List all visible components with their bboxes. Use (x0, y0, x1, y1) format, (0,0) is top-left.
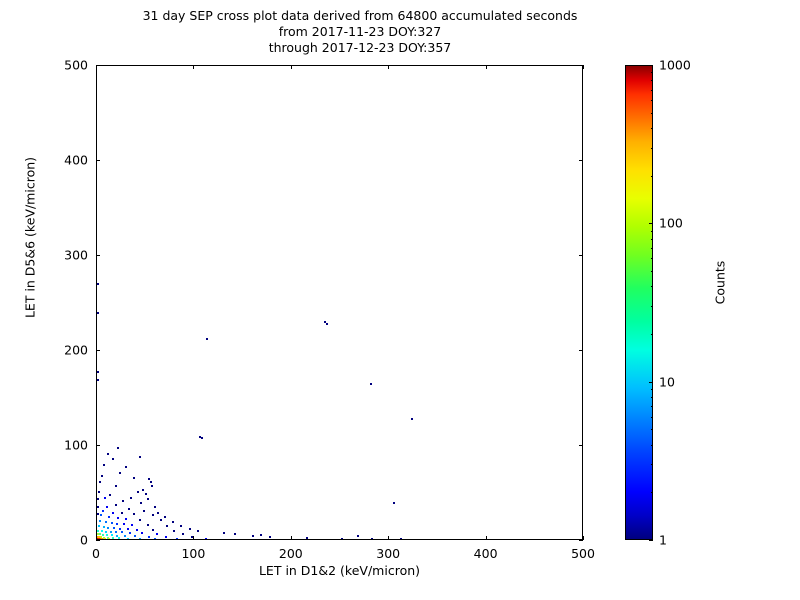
data-point (357, 535, 359, 537)
data-point (128, 508, 130, 510)
data-point (370, 383, 372, 385)
data-point (139, 519, 141, 521)
colorbar-minor-tick (651, 80, 654, 81)
data-point (252, 535, 254, 537)
data-point (119, 528, 121, 530)
plot-area (96, 65, 583, 540)
colorbar-minor-tick (651, 90, 654, 91)
data-point (105, 539, 107, 540)
data-point (247, 539, 249, 540)
data-point (98, 491, 100, 493)
x-tick (388, 536, 389, 540)
data-point (140, 502, 142, 504)
data-point (115, 539, 117, 540)
colorbar-minor-tick (651, 100, 654, 101)
y-tick-label: 200 (48, 343, 88, 358)
x-tick-label: 0 (92, 546, 100, 561)
x-tick-label: 300 (376, 546, 400, 561)
x-tick-top (486, 65, 487, 69)
x-tick-label: 100 (181, 546, 205, 561)
data-point (97, 283, 99, 285)
data-point (147, 498, 149, 500)
data-point (103, 526, 105, 528)
data-point (124, 535, 126, 537)
data-point (107, 527, 109, 529)
x-tick-top (388, 65, 389, 69)
colorbar-minor-tick (651, 271, 654, 272)
y-tick (96, 255, 100, 256)
data-point (109, 494, 111, 496)
data-point (97, 312, 99, 314)
data-point (152, 514, 154, 516)
data-point (184, 539, 186, 540)
data-point (115, 504, 117, 506)
data-point (165, 536, 167, 538)
data-point (97, 530, 99, 532)
data-point (148, 478, 150, 480)
data-point (105, 531, 107, 533)
data-point (260, 534, 262, 536)
data-point (411, 418, 413, 420)
data-point (97, 506, 99, 508)
y-axis-label: LET in D5&6 (keV/micron) (23, 128, 38, 348)
data-point (157, 512, 159, 514)
data-point (148, 536, 150, 538)
data-point (133, 513, 135, 515)
data-point (216, 539, 218, 540)
data-point (139, 456, 141, 458)
y-tick-right (579, 160, 583, 161)
colorbar-minor-tick (651, 334, 654, 335)
data-point (160, 539, 162, 540)
colorbar (625, 65, 653, 540)
colorbar-minor-tick (651, 464, 654, 465)
data-point (201, 437, 203, 439)
data-point (384, 539, 386, 540)
y-tick (96, 540, 100, 541)
colorbar-minor-tick (651, 231, 654, 232)
colorbar-tick-label: 1000 (659, 58, 691, 73)
data-point (133, 477, 135, 479)
data-point (102, 510, 104, 512)
data-point (108, 516, 110, 518)
title-line-2: from 2017-11-23 DOY:327 (0, 24, 720, 40)
data-point (119, 472, 121, 474)
data-point (127, 538, 129, 540)
data-point (132, 539, 134, 540)
data-point (205, 538, 207, 540)
colorbar-minor-tick (651, 248, 654, 249)
data-point (154, 538, 156, 540)
colorbar-minor-tick (651, 389, 654, 390)
data-point (136, 529, 138, 531)
data-point (371, 538, 373, 540)
colorbar-minor-tick (651, 417, 654, 418)
data-point (186, 539, 188, 540)
colorbar-minor-tick (651, 286, 654, 287)
data-point (98, 525, 100, 527)
x-tick (583, 536, 584, 540)
data-point (110, 531, 112, 533)
data-point (117, 447, 119, 449)
data-point (100, 514, 102, 516)
data-point (234, 533, 236, 535)
data-point (145, 539, 147, 540)
data-point (341, 538, 343, 540)
x-tick-top (291, 65, 292, 69)
data-point (400, 538, 402, 540)
colorbar-minor-tick (651, 445, 654, 446)
data-point (97, 371, 99, 373)
data-point (121, 512, 123, 514)
colorbar-tick-label: 10 (659, 374, 675, 389)
data-point (443, 539, 445, 540)
chart-title: 31 day SEP cross plot data derived from … (0, 8, 720, 56)
data-point (156, 533, 158, 535)
data-point (97, 513, 99, 515)
x-tick (486, 536, 487, 540)
data-point (162, 539, 164, 540)
data-point (180, 525, 182, 527)
data-point (102, 534, 104, 536)
y-tick-label: 500 (48, 58, 88, 73)
x-tick (291, 536, 292, 540)
data-point (393, 502, 395, 504)
data-point (213, 539, 215, 540)
data-point (105, 521, 107, 523)
data-point (111, 534, 113, 536)
colorbar-tick (649, 65, 653, 66)
y-tick (96, 65, 100, 66)
data-point (103, 464, 105, 466)
data-point (101, 530, 103, 532)
data-point (152, 529, 154, 531)
y-tick-label: 100 (48, 438, 88, 453)
data-point (281, 539, 283, 540)
y-tick (96, 350, 100, 351)
data-point (142, 489, 144, 491)
y-tick-right (579, 255, 583, 256)
data-point (106, 506, 108, 508)
x-tick-label: 200 (279, 546, 303, 561)
data-point (326, 323, 328, 325)
data-point (112, 458, 114, 460)
data-point (125, 518, 127, 520)
colorbar-minor-tick (651, 72, 654, 73)
data-point (150, 481, 152, 483)
data-point (127, 528, 129, 530)
data-point (115, 531, 117, 533)
data-point (122, 500, 124, 502)
colorbar-tick (649, 382, 653, 383)
data-point (160, 519, 162, 521)
colorbar-minor-tick (651, 397, 654, 398)
data-point (130, 497, 132, 499)
data-point (123, 523, 125, 525)
colorbar-tick-label: 1 (659, 533, 667, 548)
data-point (112, 512, 114, 514)
data-point (206, 338, 208, 340)
data-point (189, 528, 191, 530)
colorbar-minor-tick (651, 113, 654, 114)
title-line-1: 31 day SEP cross plot data derived from … (0, 8, 720, 24)
data-point (116, 523, 118, 525)
data-point (101, 475, 103, 477)
data-point (121, 531, 123, 533)
y-tick-label: 400 (48, 153, 88, 168)
data-point (134, 535, 136, 537)
x-axis-label: LET in D1&2 (keV/micron) (96, 563, 583, 578)
figure: 31 day SEP cross plot data derived from … (0, 0, 800, 600)
data-point (143, 539, 145, 540)
data-point (137, 491, 139, 493)
data-point (100, 539, 102, 540)
data-point (115, 485, 117, 487)
data-point (324, 321, 326, 323)
data-point (223, 532, 225, 534)
x-tick-label: 400 (474, 546, 498, 561)
y-tick-label: 300 (48, 248, 88, 263)
x-tick-top (193, 65, 194, 69)
data-point (460, 539, 462, 540)
colorbar-label: Counts (713, 203, 728, 363)
data-point (102, 539, 104, 540)
colorbar-minor-tick (651, 128, 654, 129)
colorbar-minor-tick (651, 492, 654, 493)
data-point (242, 539, 244, 540)
data-point (425, 539, 427, 540)
data-point (117, 517, 119, 519)
colorbar-tick (649, 223, 653, 224)
y-tick (96, 160, 100, 161)
data-point (154, 506, 156, 508)
y-tick-right (579, 350, 583, 351)
data-point (151, 485, 153, 487)
data-point (306, 537, 308, 539)
data-point (97, 498, 99, 500)
data-point (97, 379, 99, 381)
data-point (166, 525, 168, 527)
y-tick-right (579, 65, 583, 66)
colorbar-minor-tick (651, 239, 654, 240)
title-line-3: through 2017-12-23 DOY:357 (0, 40, 720, 56)
data-point (129, 532, 131, 534)
colorbar-minor-tick (651, 148, 654, 149)
colorbar-minor-tick (651, 306, 654, 307)
data-point (99, 533, 101, 535)
data-point (125, 466, 127, 468)
data-point (173, 530, 175, 532)
y-tick-label: 0 (48, 533, 88, 548)
x-tick-top (583, 65, 584, 69)
colorbar-minor-tick (651, 176, 654, 177)
data-point (182, 533, 184, 535)
data-point (176, 538, 178, 540)
data-point (104, 497, 106, 499)
data-point (141, 532, 143, 534)
data-point (107, 453, 109, 455)
scatter-points-layer (97, 66, 582, 539)
x-tick-label: 500 (571, 546, 595, 561)
data-point (99, 520, 101, 522)
data-point (145, 493, 147, 495)
y-tick-right (579, 445, 583, 446)
data-point (131, 524, 133, 526)
data-point (147, 524, 149, 526)
data-point (143, 510, 145, 512)
data-point (122, 539, 124, 540)
data-point (269, 536, 271, 538)
data-point (113, 527, 115, 529)
data-point (164, 516, 166, 518)
y-tick (96, 445, 100, 446)
colorbar-minor-tick (651, 258, 654, 259)
data-point (109, 539, 111, 540)
colorbar-minor-tick (651, 429, 654, 430)
data-point (139, 538, 141, 540)
data-point (99, 481, 101, 483)
data-point (172, 521, 174, 523)
data-point (197, 530, 199, 532)
colorbar-tick-label: 100 (659, 216, 683, 231)
colorbar-minor-tick (651, 406, 654, 407)
y-tick-right (579, 540, 583, 541)
data-point (322, 539, 324, 540)
data-point (111, 522, 113, 524)
x-tick (193, 536, 194, 540)
colorbar-tick (649, 540, 653, 541)
